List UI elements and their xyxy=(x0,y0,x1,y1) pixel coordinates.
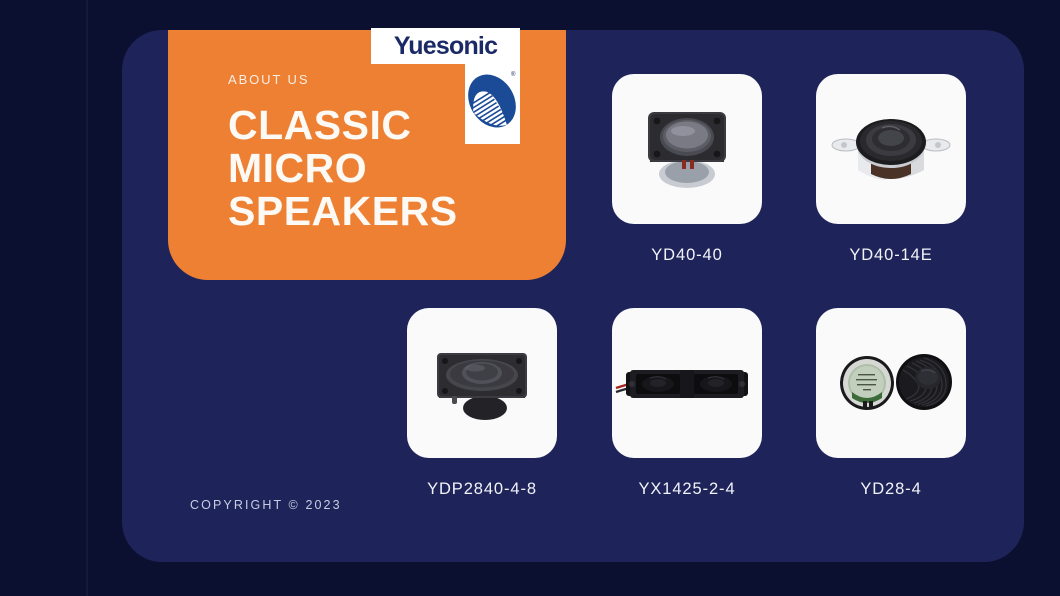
product-label: YD28-4 xyxy=(816,480,966,499)
content-card: ABOUT US CLASSIC MICRO SPEAKERS Yuesonic xyxy=(122,30,1024,562)
product-image-tile xyxy=(816,74,966,224)
copyright-text: COPYRIGHT © 2023 xyxy=(190,498,342,512)
product-card-ydp2840-4-8[interactable]: YDP2840-4-8 xyxy=(407,308,557,499)
product-card-yd28-4[interactable]: YD28-4 xyxy=(816,308,966,499)
dual-bar-speaker-icon xyxy=(612,308,762,458)
product-label: YX1425-2-4 xyxy=(612,480,762,499)
round-speaker-with-tabs-icon xyxy=(816,74,966,224)
product-image-tile xyxy=(612,308,762,458)
product-card-yd40-40[interactable]: YD40-40 xyxy=(612,74,762,265)
pair-round-mylar-speaker-icon xyxy=(816,308,966,458)
product-image-tile xyxy=(612,74,762,224)
product-label: YDP2840-4-8 xyxy=(407,480,557,499)
product-label: YD40-14E xyxy=(816,246,966,265)
product-card-yd40-14e[interactable]: YD40-14E xyxy=(816,74,966,265)
square-micro-speaker-icon xyxy=(612,74,762,224)
product-card-yx1425-2-4[interactable]: YX1425-2-4 xyxy=(612,308,762,499)
left-divider-rule xyxy=(86,0,88,596)
product-image-tile xyxy=(407,308,557,458)
product-image-tile xyxy=(816,308,966,458)
rectangular-oval-speaker-icon xyxy=(407,308,557,458)
product-label: YD40-40 xyxy=(612,246,762,265)
product-grid: YD40-40 xyxy=(122,30,1024,562)
